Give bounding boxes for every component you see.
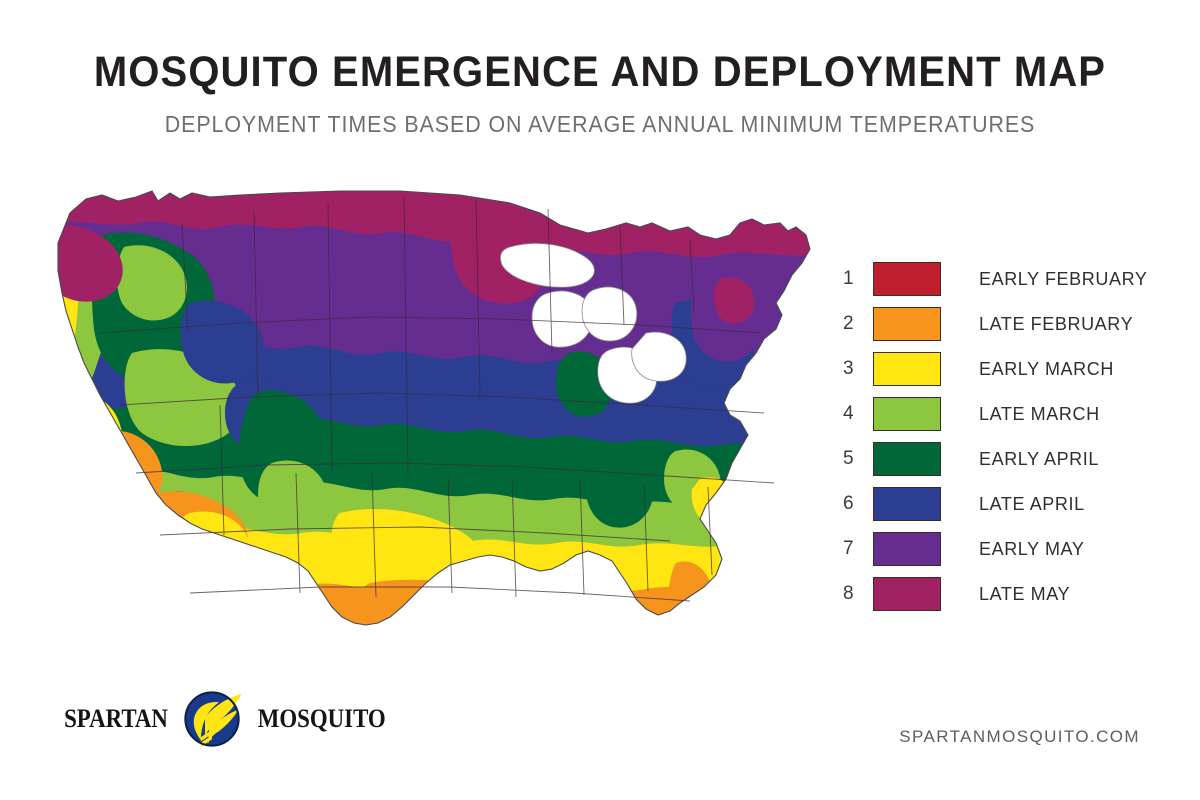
legend-number: 3	[843, 358, 873, 380]
legend-label: LATE APRIL	[979, 494, 1085, 515]
zone-bands	[40, 183, 830, 673]
legend: 1 EARLY FEBRUARY 2 LATE FEBRUARY 3 EARLY…	[843, 262, 1163, 622]
brand-name-left: SPARTAN	[64, 704, 168, 734]
infographic-page: MOSQUITO EMERGENCE AND DEPLOYMENT MAP DE…	[0, 0, 1200, 800]
legend-label: EARLY MARCH	[979, 359, 1114, 380]
legend-row[interactable]: 4 LATE MARCH	[843, 397, 1163, 431]
page-title: MOSQUITO EMERGENCE AND DEPLOYMENT MAP	[42, 0, 1158, 97]
brand-name-right: MOSQUITO	[258, 704, 386, 734]
zone-2-band	[40, 577, 830, 673]
legend-number: 1	[843, 268, 873, 290]
legend-swatch-8	[873, 577, 941, 611]
legend-number: 2	[843, 313, 873, 335]
legend-row[interactable]: 2 LATE FEBRUARY	[843, 307, 1163, 341]
legend-label: LATE MARCH	[979, 404, 1100, 425]
zone-1-band	[40, 633, 830, 673]
legend-row[interactable]: 6 LATE APRIL	[843, 487, 1163, 521]
legend-swatch-6	[873, 487, 941, 521]
header: MOSQUITO EMERGENCE AND DEPLOYMENT MAP DE…	[0, 0, 1200, 138]
legend-swatch-3	[873, 352, 941, 386]
legend-swatch-2	[873, 307, 941, 341]
legend-row[interactable]: 3 EARLY MARCH	[843, 352, 1163, 386]
spartan-helmet-icon	[177, 684, 247, 754]
legend-label: EARLY APRIL	[979, 449, 1099, 470]
legend-label: LATE MAY	[979, 584, 1070, 605]
usa-zone-map	[40, 183, 830, 673]
map-svg	[40, 183, 830, 673]
legend-row[interactable]: 5 EARLY APRIL	[843, 442, 1163, 476]
legend-swatch-4	[873, 397, 941, 431]
legend-row[interactable]: 1 EARLY FEBRUARY	[843, 262, 1163, 296]
legend-label: LATE FEBRUARY	[979, 314, 1133, 335]
legend-swatch-5	[873, 442, 941, 476]
legend-number: 6	[843, 493, 873, 515]
legend-row[interactable]: 7 EARLY MAY	[843, 532, 1163, 566]
legend-number: 5	[843, 448, 873, 470]
legend-number: 4	[843, 403, 873, 425]
legend-label: EARLY FEBRUARY	[979, 269, 1147, 290]
brand-logo[interactable]: SPARTAN MOSQUITO	[57, 683, 394, 755]
legend-swatch-7	[873, 532, 941, 566]
page-subtitle: DEPLOYMENT TIMES BASED ON AVERAGE ANNUAL…	[42, 97, 1158, 138]
legend-label: EARLY MAY	[979, 539, 1084, 560]
legend-row[interactable]: 8 LATE MAY	[843, 577, 1163, 611]
legend-number: 8	[843, 583, 873, 605]
website-url[interactable]: SPARTANMOSQUITO.COM	[899, 727, 1140, 747]
legend-swatch-1	[873, 262, 941, 296]
legend-number: 7	[843, 538, 873, 560]
